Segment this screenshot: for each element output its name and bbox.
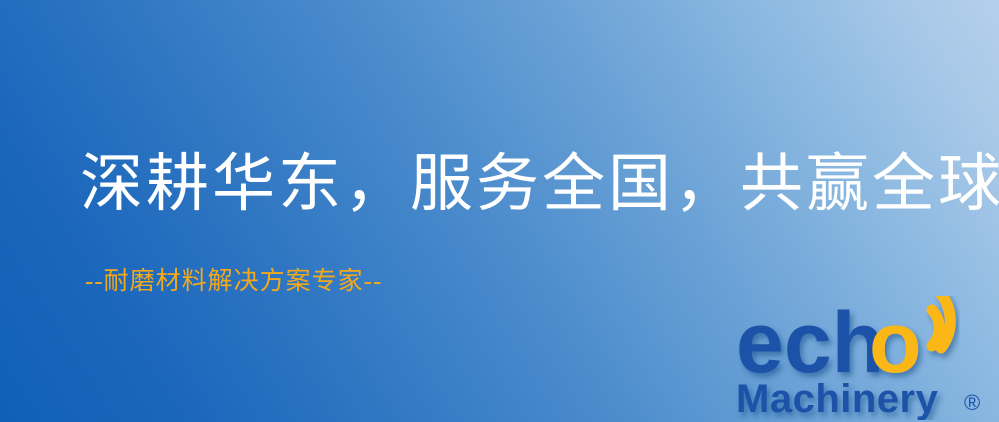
- banner-subtitle: --耐磨材料解决方案专家--: [85, 267, 382, 297]
- promo-banner: 深耕华东，服务全国，共赢全球 --耐磨材料解决方案专家-- ech o Mach…: [0, 0, 999, 422]
- banner-headline: 深耕华东，服务全国，共赢全球: [80, 148, 999, 220]
- echo-machinery-logo: ech o Machinery ®: [736, 296, 994, 420]
- registered-trademark-icon: ®: [964, 390, 980, 415]
- logo-artwork: ech o Machinery ®: [736, 296, 994, 420]
- logo-machinery-text: Machinery: [736, 377, 939, 420]
- echo-wave-icon: [932, 296, 950, 348]
